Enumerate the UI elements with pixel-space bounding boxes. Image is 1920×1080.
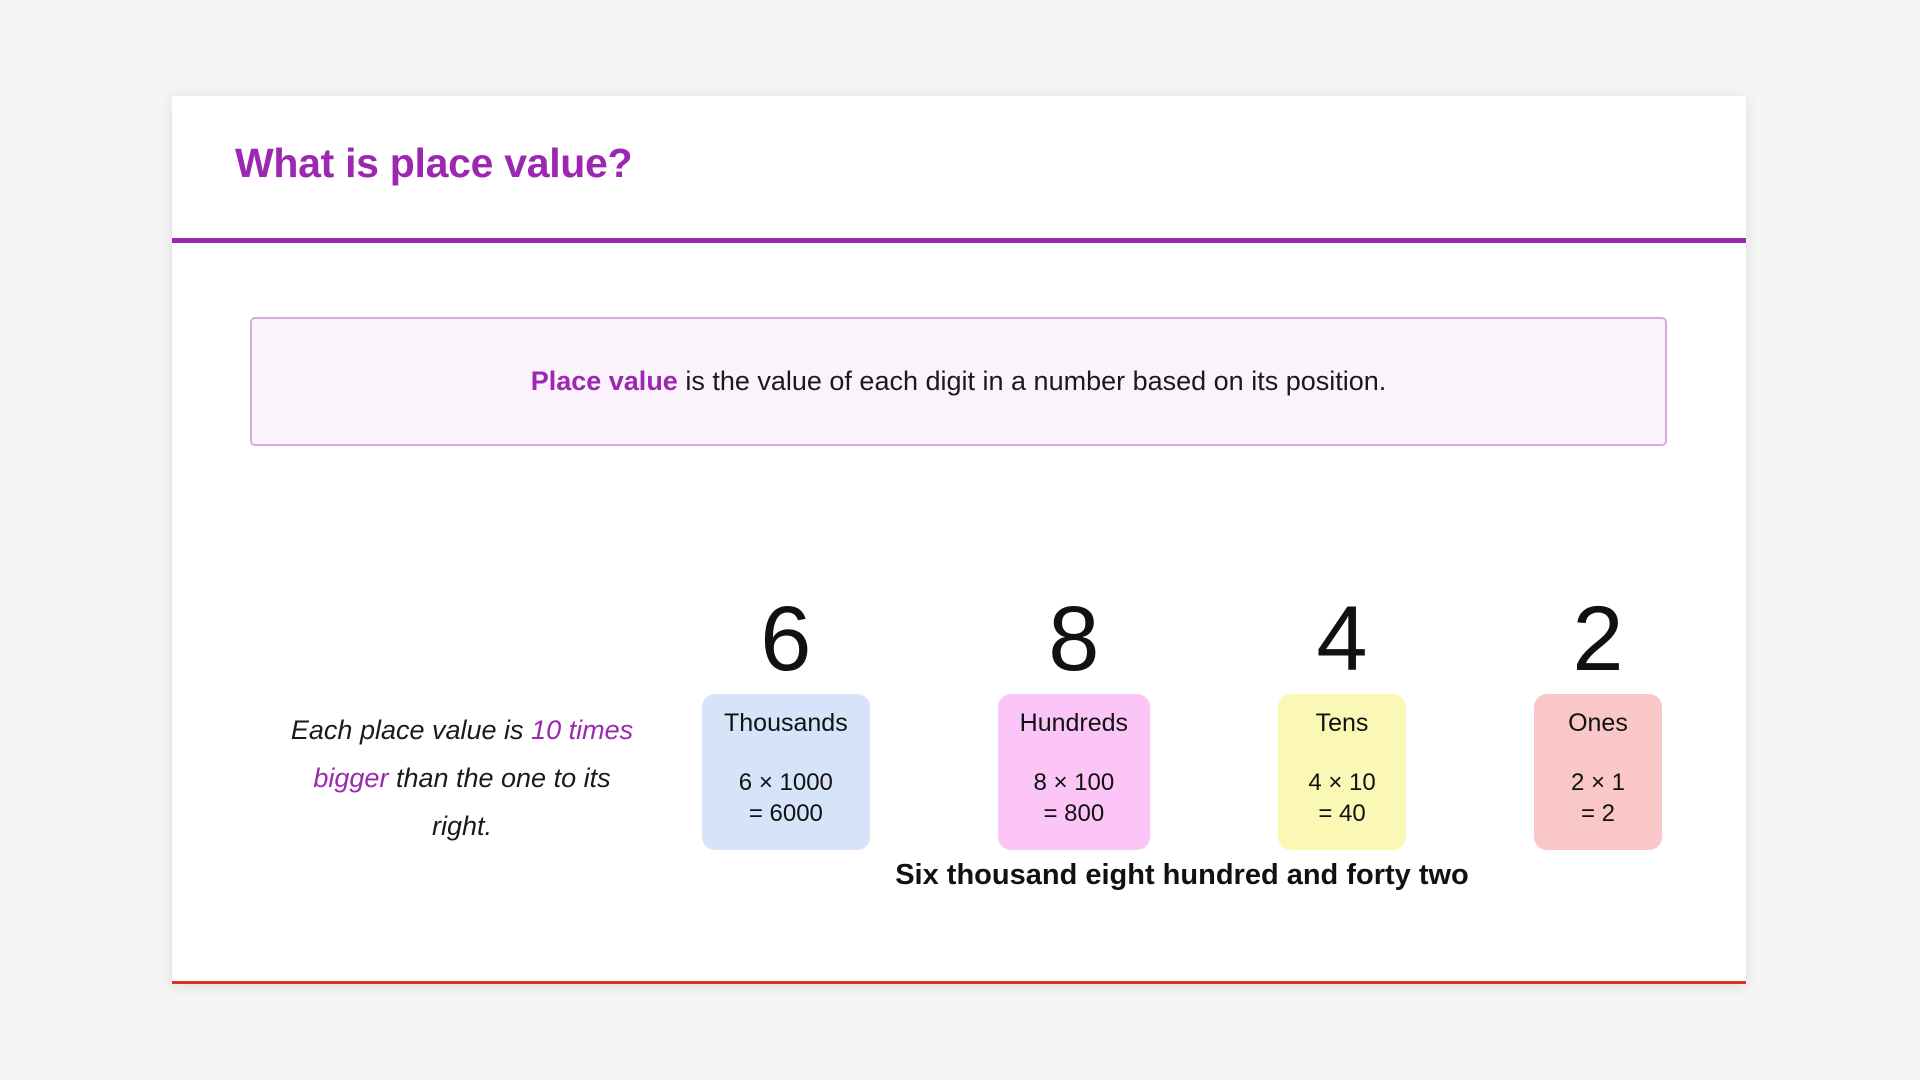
place-label-thousands: Thousands: [724, 708, 848, 738]
calc-line-2: = 6000: [724, 799, 848, 830]
place-value-column-thousands: 6 Thousands 6 × 1000 = 6000: [702, 596, 870, 850]
slide-card: What is place value? Place value is the …: [172, 96, 1746, 984]
place-card-ones: Ones 2 × 1 = 2: [1534, 694, 1662, 849]
definition-term: Place value: [531, 366, 678, 396]
place-value-columns: 6 Thousands 6 × 1000 = 6000 8 Hundreds 8…: [702, 596, 1662, 850]
title-divider: [172, 238, 1746, 243]
place-calc-tens: 4 × 10 = 40: [1300, 768, 1384, 829]
place-label-tens: Tens: [1300, 708, 1384, 738]
note-part-1: Each place value is: [291, 715, 531, 745]
place-label-hundreds: Hundreds: [1020, 708, 1128, 738]
place-value-column-hundreds: 8 Hundreds 8 × 100 = 800: [998, 596, 1150, 850]
definition-callout: Place value is the value of each digit i…: [250, 317, 1667, 446]
calc-line-1: 4 × 10: [1300, 768, 1384, 799]
place-value-column-tens: 4 Tens 4 × 10 = 40: [1278, 596, 1406, 850]
calc-line-1: 8 × 100: [1020, 768, 1128, 799]
place-value-column-ones: 2 Ones 2 × 1 = 2: [1534, 596, 1662, 850]
calc-line-1: 6 × 1000: [724, 768, 848, 799]
place-card-hundreds: Hundreds 8 × 100 = 800: [998, 694, 1150, 849]
definition-rest: is the value of each digit in a number b…: [678, 366, 1386, 396]
body-area: Each place value is 10 times bigger than…: [172, 476, 1746, 896]
digit-ones: 2: [1572, 596, 1623, 683]
place-card-thousands: Thousands 6 × 1000 = 6000: [702, 694, 870, 849]
place-label-ones: Ones: [1556, 708, 1640, 738]
place-calc-thousands: 6 × 1000 = 6000: [724, 768, 848, 829]
place-card-tens: Tens 4 × 10 = 40: [1278, 694, 1406, 849]
place-calc-hundreds: 8 × 100 = 800: [1020, 768, 1128, 829]
digit-tens: 4: [1316, 596, 1367, 683]
calc-line-1: 2 × 1: [1556, 768, 1640, 799]
place-calc-ones: 2 × 1 = 2: [1556, 768, 1640, 829]
calc-line-2: = 2: [1556, 799, 1640, 830]
digit-hundreds: 8: [1048, 596, 1099, 683]
digit-thousands: 6: [760, 596, 811, 683]
place-value-note: Each place value is 10 times bigger than…: [282, 706, 642, 850]
number-in-words-caption: Six thousand eight hundred and forty two: [702, 859, 1662, 892]
page-title: What is place value?: [235, 140, 632, 187]
calc-line-2: = 40: [1300, 799, 1384, 830]
definition-text: Place value is the value of each digit i…: [531, 364, 1387, 399]
note-part-2: than the one to its right.: [388, 763, 610, 841]
calc-line-2: = 800: [1020, 799, 1128, 830]
